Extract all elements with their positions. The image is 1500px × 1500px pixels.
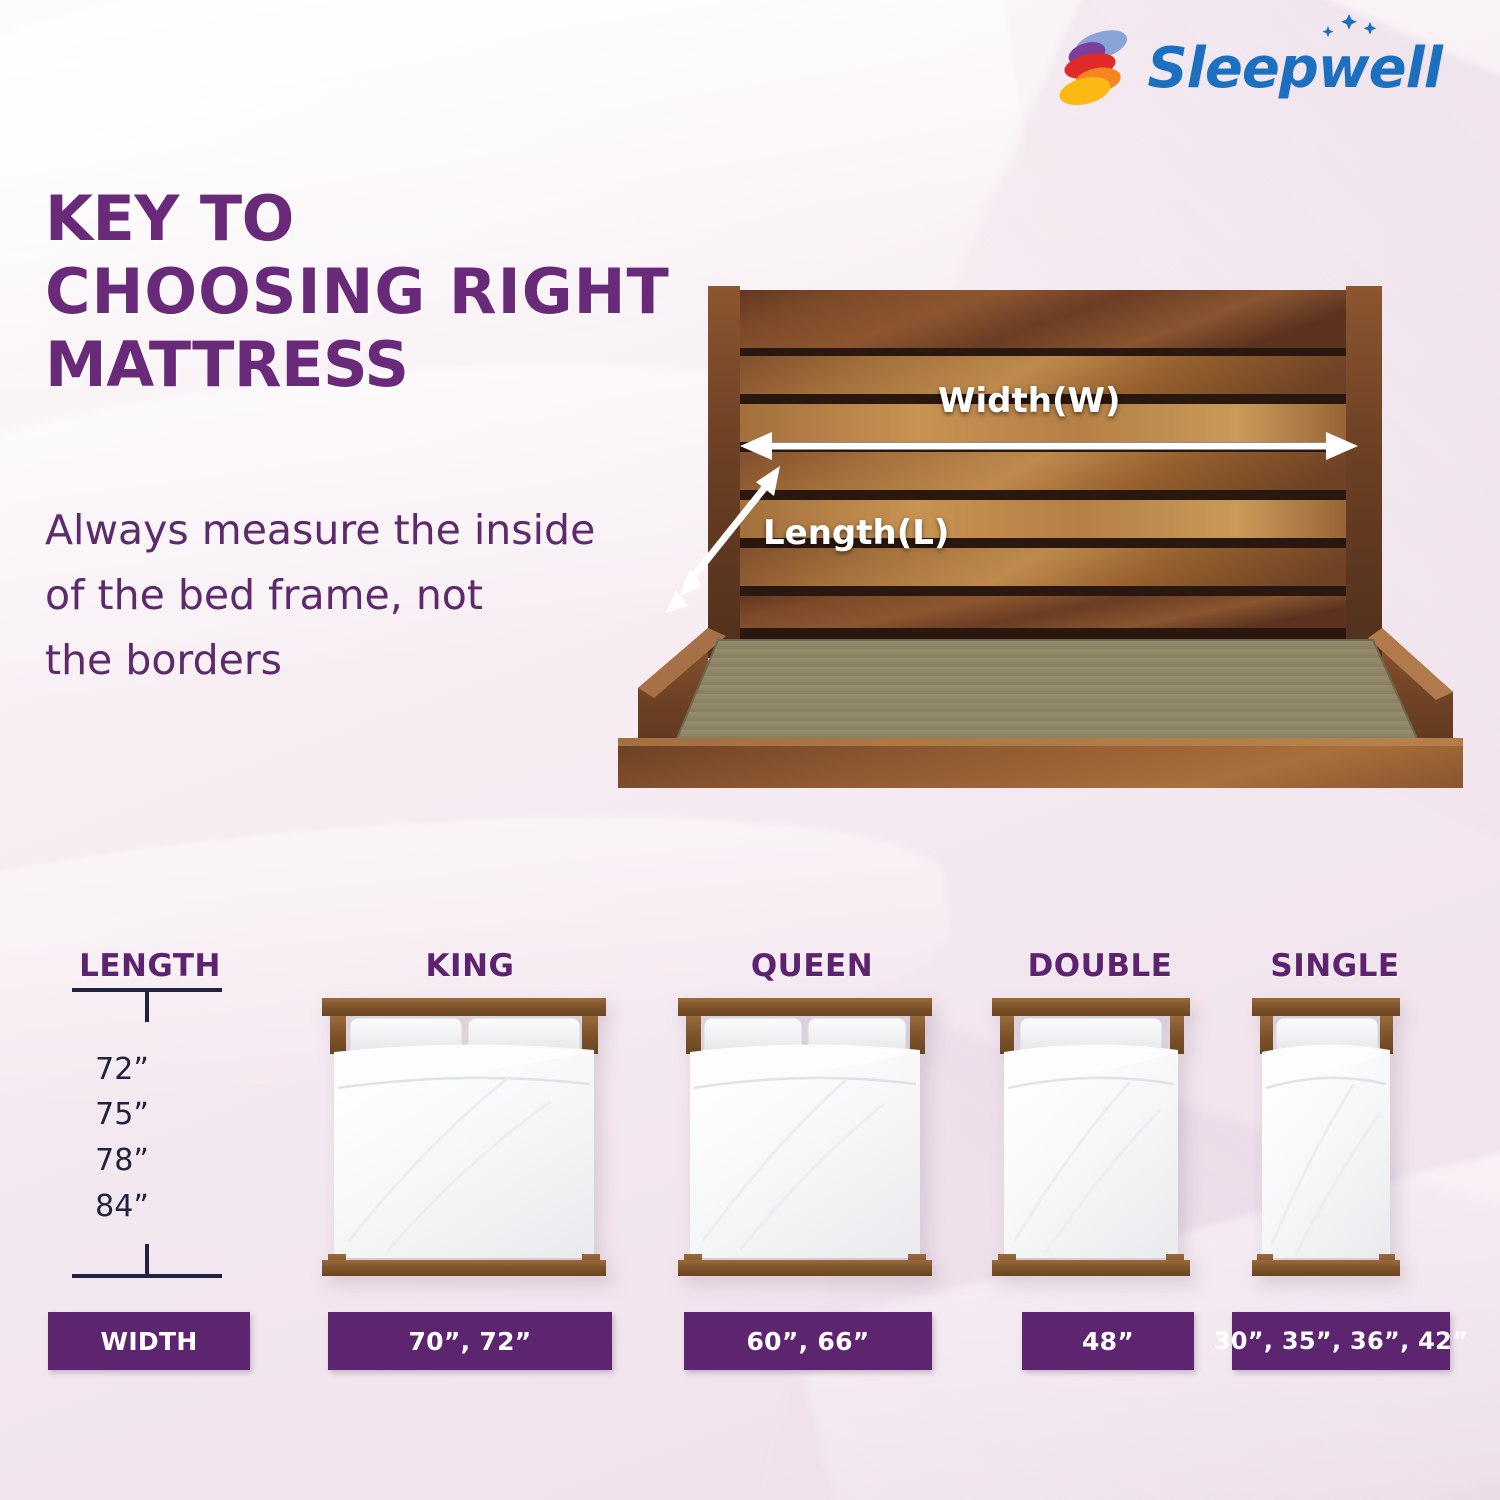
column-header-double: DOUBLE: [1000, 948, 1200, 984]
length-value-72: 72”: [62, 1052, 182, 1087]
bed-illustration-queen: [674, 992, 936, 1282]
sleepwell-swirl-logo-icon: [1057, 28, 1131, 110]
length-header: LENGTH: [55, 948, 245, 984]
length-value-84: 84”: [62, 1189, 182, 1224]
page-title: KEY TO CHOOSING RIGHT MATTRESS: [45, 182, 705, 401]
bed-illustration-king: [318, 992, 610, 1282]
bracket-bottom-tick: [145, 1244, 149, 1278]
brand-logo: Sleepwell: [1057, 28, 1442, 110]
column-header-single: SINGLE: [1235, 948, 1435, 984]
length-dimension-label: Length(L): [763, 513, 949, 553]
brand-wordmark: Sleepwell: [1147, 41, 1442, 97]
bed-frame-illustration: Width(W) Length(L): [608, 268, 1473, 788]
length-scale-bracket: [72, 988, 222, 1278]
headline-line-1: KEY TO: [45, 182, 705, 255]
width-dimension-label: Width(W): [938, 381, 1121, 421]
column-header-queen: QUEEN: [712, 948, 912, 984]
width-value-single: 30”, 35”, 36”, 42”: [1232, 1312, 1450, 1370]
page-subtitle: Always measure the inside of the bed fra…: [45, 498, 655, 692]
width-value-queen: 60”, 66”: [684, 1312, 932, 1370]
headline-line-3: MATTRESS: [45, 328, 705, 401]
bracket-bottom-bar: [72, 1274, 222, 1278]
subtitle-line-2: of the bed frame, not: [45, 563, 655, 628]
stars-icon: [1316, 12, 1390, 38]
length-value-78: 78”: [62, 1143, 182, 1178]
width-row-label: WIDTH: [48, 1312, 250, 1370]
infographic-page: Sleepwell KEY TO CHOOSING RIGHT MATTRESS…: [0, 0, 1500, 1500]
width-value-double: 48”: [1022, 1312, 1194, 1370]
subtitle-line-3: the borders: [45, 628, 655, 693]
length-value-75: 75”: [62, 1097, 182, 1132]
headline-line-2: CHOOSING RIGHT: [45, 255, 705, 328]
bed-illustration-single: [1248, 992, 1404, 1282]
column-header-king: KING: [370, 948, 570, 984]
bracket-top-tick: [145, 988, 149, 1022]
bed-illustration-double: [988, 992, 1194, 1282]
width-value-king: 70”, 72”: [328, 1312, 612, 1370]
subtitle-line-1: Always measure the inside: [45, 498, 655, 563]
